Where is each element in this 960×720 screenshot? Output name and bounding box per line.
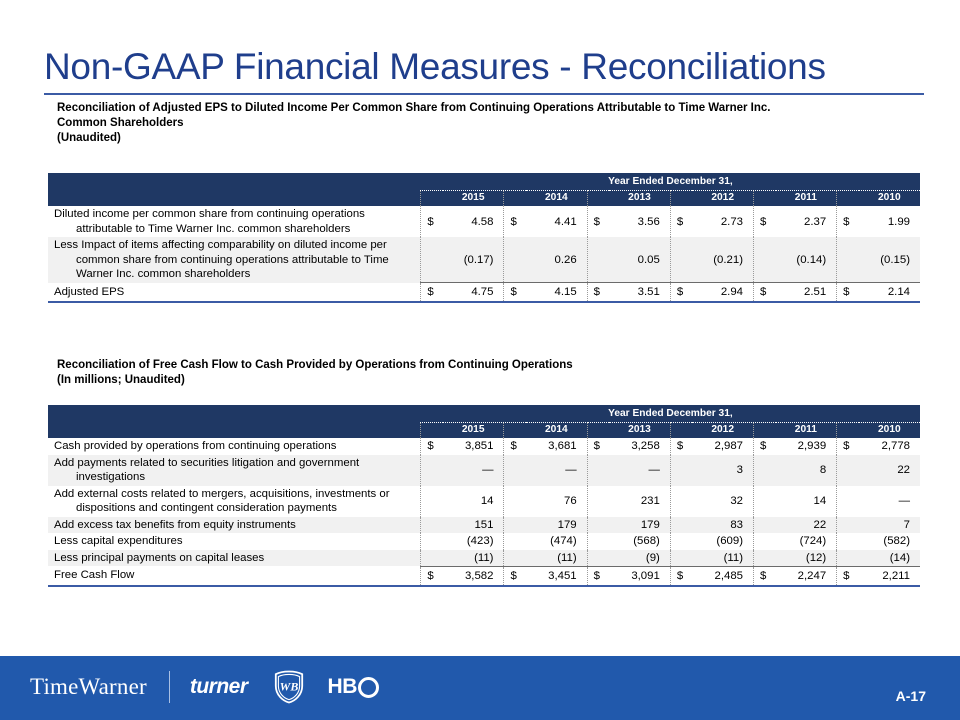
cell-value: (14) (859, 550, 920, 567)
row-label: Less principal payments on capital lease… (48, 550, 421, 567)
table-total-row: Adjusted EPS$4.75$4.15$3.51$2.94$2.51$2.… (48, 283, 920, 303)
hbo-logo: HB (328, 675, 379, 699)
table-header-span-row: Year Ended December 31, (48, 405, 920, 423)
currency-symbol (587, 455, 609, 486)
row-label-line: investigations (54, 470, 416, 485)
row-label-line: Add excess tax benefits from equity inst… (54, 518, 416, 533)
currency-symbol: $ (421, 566, 443, 586)
currency-symbol (504, 533, 526, 550)
table-header-years-row: 2015 2014 2013 2012 2011 2010 (48, 191, 920, 207)
section-2-heading: Reconciliation of Free Cash Flow to Cash… (57, 358, 907, 388)
currency-symbol (837, 533, 859, 550)
cell-value: — (859, 486, 920, 517)
cell-value: 4.58 (443, 206, 504, 237)
total-cell-value: 4.15 (526, 283, 587, 303)
cell-value: 3,258 (609, 438, 670, 455)
cell-value: (609) (692, 533, 753, 550)
total-cell-value: 2.51 (776, 283, 837, 303)
currency-symbol (754, 455, 776, 486)
section-1-heading-line-3: (Unaudited) (57, 131, 907, 146)
cell-value: 2,778 (859, 438, 920, 455)
cell-value: (0.14) (776, 237, 837, 283)
year-col-spacer-2014 (504, 191, 526, 207)
table-2-year-2011: 2011 (776, 423, 837, 439)
section-2-heading-line-2: (In millions; Unaudited) (57, 373, 907, 388)
table-2-span-header: Year Ended December 31, (421, 405, 920, 423)
table-1-year-2015: 2015 (443, 191, 504, 207)
total-cell-value: 3.51 (609, 283, 670, 303)
row-label-line: Diluted income per common share from con… (54, 207, 416, 222)
section-1-heading-line-1: Reconciliation of Adjusted EPS to Dilute… (57, 101, 907, 116)
total-cell-value: 2.94 (692, 283, 753, 303)
footer-logos: TimeWarner turner WB HB (30, 667, 379, 707)
row-label-line: Less capital expenditures (54, 534, 416, 549)
table-row: Less Impact of items affecting comparabi… (48, 237, 920, 283)
title-divider (44, 93, 924, 95)
year-col-spacer-2010 (837, 191, 859, 207)
cell-value: 4.41 (526, 206, 587, 237)
table-2-year-2010: 2010 (859, 423, 920, 439)
page-number: A-17 (896, 688, 926, 704)
hbo-logo-text: HB (328, 675, 357, 699)
currency-symbol: $ (504, 566, 526, 586)
cell-value: (11) (443, 550, 504, 567)
row-label-line: attributable to Time Warner Inc. common … (54, 222, 416, 237)
currency-symbol (587, 486, 609, 517)
row-label: Diluted income per common share from con… (48, 206, 421, 237)
cell-value: — (609, 455, 670, 486)
row-label-line: Warner Inc. common shareholders (54, 267, 416, 282)
currency-symbol: $ (837, 206, 859, 237)
currency-symbol (504, 237, 526, 283)
cell-value: 3.56 (609, 206, 670, 237)
cell-value: (724) (776, 533, 837, 550)
cell-value: 2,987 (692, 438, 753, 455)
currency-symbol: $ (504, 438, 526, 455)
table-header: Year Ended December 31, 2015 2014 2013 2… (48, 405, 920, 438)
total-cell-value: 2.14 (859, 283, 920, 303)
currency-symbol (421, 517, 443, 534)
total-cell-value: 3,582 (443, 566, 504, 586)
table-2-year-2014: 2014 (526, 423, 587, 439)
year-col-spacer-2015 (421, 423, 443, 439)
cell-value: 3,851 (443, 438, 504, 455)
year-col-spacer-2012 (670, 423, 692, 439)
total-row-label: Adjusted EPS (48, 283, 421, 303)
table-row: Less capital expenditures(423)(474)(568)… (48, 533, 920, 550)
currency-symbol (754, 550, 776, 567)
currency-symbol (754, 237, 776, 283)
row-label: Less Impact of items affecting comparabi… (48, 237, 421, 283)
cell-value: 2,939 (776, 438, 837, 455)
currency-symbol (754, 533, 776, 550)
currency-symbol (670, 486, 692, 517)
table-2-year-2012: 2012 (692, 423, 753, 439)
cell-value: (582) (859, 533, 920, 550)
currency-symbol: $ (837, 566, 859, 586)
currency-symbol (504, 517, 526, 534)
currency-symbol (421, 455, 443, 486)
table-2-year-2013: 2013 (609, 423, 670, 439)
row-label-line: Add external costs related to mergers, a… (54, 487, 416, 502)
year-col-spacer-2012 (670, 191, 692, 207)
cell-value: (568) (609, 533, 670, 550)
currency-symbol: $ (670, 206, 692, 237)
currency-symbol: $ (670, 566, 692, 586)
svg-text:WB: WB (279, 680, 298, 694)
cell-value: (12) (776, 550, 837, 567)
row-label-line: Cash provided by operations from continu… (54, 439, 416, 454)
table-header: Year Ended December 31, 2015 2014 2013 2… (48, 173, 920, 206)
currency-symbol (670, 237, 692, 283)
table-header-span-row: Year Ended December 31, (48, 173, 920, 191)
table-1-year-2014: 2014 (526, 191, 587, 207)
currency-symbol (670, 517, 692, 534)
cell-value: (0.17) (443, 237, 504, 283)
total-cell-value: 4.75 (443, 283, 504, 303)
row-label: Cash provided by operations from continu… (48, 438, 421, 455)
currency-symbol: $ (421, 206, 443, 237)
logo-divider (169, 671, 170, 703)
total-cell-value: 2,247 (776, 566, 837, 586)
table-2-year-2015: 2015 (443, 423, 504, 439)
cell-value: 8 (776, 455, 837, 486)
year-col-spacer-2015 (421, 191, 443, 207)
cell-value: (0.21) (692, 237, 753, 283)
cell-value: (11) (692, 550, 753, 567)
row-label-line: Add payments related to securities litig… (54, 456, 416, 471)
adjusted-eps-reconciliation-table: Year Ended December 31, 2015 2014 2013 2… (48, 173, 920, 303)
currency-symbol (504, 550, 526, 567)
currency-symbol (754, 486, 776, 517)
currency-symbol (421, 550, 443, 567)
cell-value: 0.26 (526, 237, 587, 283)
cell-value: 22 (776, 517, 837, 534)
page-title: Non-GAAP Financial Measures - Reconcilia… (44, 46, 826, 88)
cell-value: 231 (609, 486, 670, 517)
shield-icon: WB (274, 670, 304, 704)
cell-value: 0.05 (609, 237, 670, 283)
cell-value: 32 (692, 486, 753, 517)
cell-value: — (443, 455, 504, 486)
row-label-line: common share from continuing operations … (54, 253, 416, 268)
cell-value: 1.99 (859, 206, 920, 237)
currency-symbol: $ (670, 283, 692, 303)
header-label-spacer-2 (48, 191, 421, 207)
year-col-spacer-2010 (837, 423, 859, 439)
total-cell-value: 3,451 (526, 566, 587, 586)
section-2-heading-line-1: Reconciliation of Free Cash Flow to Cash… (57, 358, 907, 373)
table-1-year-2012: 2012 (692, 191, 753, 207)
table-body: Diluted income per common share from con… (48, 206, 920, 302)
row-label: Add external costs related to mergers, a… (48, 486, 421, 517)
hbo-o-icon (358, 677, 379, 698)
row-label-line: dispositions and contingent consideratio… (54, 501, 416, 516)
cell-value: (11) (526, 550, 587, 567)
table-row: Add excess tax benefits from equity inst… (48, 517, 920, 534)
year-col-spacer-2013 (587, 191, 609, 207)
turner-logo: turner (190, 675, 248, 699)
year-col-spacer-2013 (587, 423, 609, 439)
currency-symbol: $ (670, 438, 692, 455)
currency-symbol (670, 455, 692, 486)
section-1-heading: Reconciliation of Adjusted EPS to Dilute… (57, 101, 907, 146)
currency-symbol: $ (587, 283, 609, 303)
table-1-span-header: Year Ended December 31, (421, 173, 920, 191)
currency-symbol (837, 455, 859, 486)
cell-value: 14 (443, 486, 504, 517)
row-label: Add excess tax benefits from equity inst… (48, 517, 421, 534)
table-total-row: Free Cash Flow$3,582$3,451$3,091$2,485$2… (48, 566, 920, 586)
cell-value: 2.73 (692, 206, 753, 237)
cell-value: 179 (609, 517, 670, 534)
cell-value: 3 (692, 455, 753, 486)
header-label-spacer-2 (48, 423, 421, 439)
cell-value: (0.15) (859, 237, 920, 283)
cell-value: (474) (526, 533, 587, 550)
year-col-spacer-2014 (504, 423, 526, 439)
cell-value: 3,681 (526, 438, 587, 455)
currency-symbol: $ (421, 438, 443, 455)
currency-symbol (837, 550, 859, 567)
total-cell-value: 2,211 (859, 566, 920, 586)
cell-value: — (526, 455, 587, 486)
cell-value: 76 (526, 486, 587, 517)
currency-symbol: $ (837, 438, 859, 455)
warner-bros-shield-logo: WB (274, 670, 304, 704)
cell-value: 22 (859, 455, 920, 486)
year-col-spacer-2011 (754, 423, 776, 439)
currency-symbol (504, 455, 526, 486)
cell-value: (423) (443, 533, 504, 550)
currency-symbol: $ (754, 283, 776, 303)
currency-symbol: $ (504, 283, 526, 303)
currency-symbol: $ (837, 283, 859, 303)
table-row: Add external costs related to mergers, a… (48, 486, 920, 517)
table-1-year-2013: 2013 (609, 191, 670, 207)
cell-value: 179 (526, 517, 587, 534)
currency-symbol (670, 533, 692, 550)
currency-symbol (670, 550, 692, 567)
currency-symbol (421, 486, 443, 517)
cell-value: 2.37 (776, 206, 837, 237)
cell-value: 83 (692, 517, 753, 534)
section-1-heading-line-2: Common Shareholders (57, 116, 907, 131)
currency-symbol (587, 517, 609, 534)
total-cell-value: 2,485 (692, 566, 753, 586)
currency-symbol: $ (421, 283, 443, 303)
table-1-year-2010: 2010 (859, 191, 920, 207)
free-cash-flow-reconciliation-table: Year Ended December 31, 2015 2014 2013 2… (48, 405, 920, 587)
currency-symbol (504, 486, 526, 517)
cell-value: (9) (609, 550, 670, 567)
currency-symbol: $ (754, 438, 776, 455)
table-row: Add payments related to securities litig… (48, 455, 920, 486)
table-header-years-row: 2015 2014 2013 2012 2011 2010 (48, 423, 920, 439)
header-label-spacer (48, 173, 421, 191)
currency-symbol (837, 237, 859, 283)
total-cell-value: 3,091 (609, 566, 670, 586)
currency-symbol: $ (504, 206, 526, 237)
table-row: Less principal payments on capital lease… (48, 550, 920, 567)
timewarner-logo: TimeWarner (30, 674, 147, 700)
cell-value: 151 (443, 517, 504, 534)
currency-symbol (587, 550, 609, 567)
currency-symbol (587, 533, 609, 550)
currency-symbol: $ (587, 438, 609, 455)
table-1-year-2011: 2011 (776, 191, 837, 207)
table-row: Diluted income per common share from con… (48, 206, 920, 237)
row-label: Add payments related to securities litig… (48, 455, 421, 486)
currency-symbol (837, 517, 859, 534)
currency-symbol (421, 533, 443, 550)
cell-value: 7 (859, 517, 920, 534)
row-label-line: Less principal payments on capital lease… (54, 551, 416, 566)
currency-symbol (421, 237, 443, 283)
row-label: Less capital expenditures (48, 533, 421, 550)
total-row-label: Free Cash Flow (48, 566, 421, 586)
currency-symbol (587, 237, 609, 283)
cell-value: 14 (776, 486, 837, 517)
year-col-spacer-2011 (754, 191, 776, 207)
table-body: Cash provided by operations from continu… (48, 438, 920, 586)
row-label-line: Less Impact of items affecting comparabi… (54, 238, 416, 253)
header-label-spacer (48, 405, 421, 423)
currency-symbol: $ (754, 206, 776, 237)
currency-symbol (754, 517, 776, 534)
currency-symbol: $ (587, 566, 609, 586)
currency-symbol (837, 486, 859, 517)
currency-symbol: $ (587, 206, 609, 237)
currency-symbol: $ (754, 566, 776, 586)
table-row: Cash provided by operations from continu… (48, 438, 920, 455)
